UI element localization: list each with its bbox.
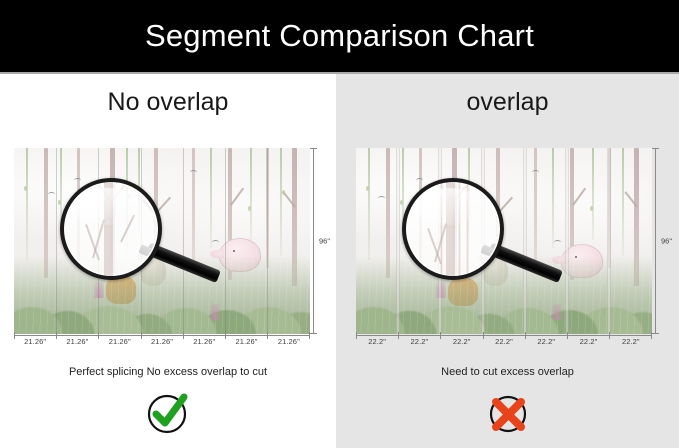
segment-width-label: 22.2" bbox=[398, 337, 440, 346]
verdict-no-overlap bbox=[0, 390, 336, 436]
tree-trunk bbox=[266, 148, 269, 268]
elephant-eye bbox=[233, 250, 235, 252]
height-ruler-overlap: 96" bbox=[652, 148, 678, 334]
segment-width-label: 22.2" bbox=[525, 337, 567, 346]
mural-figure-overlap: 96" 22.2" 22.2" 22.2" 2 bbox=[356, 148, 652, 334]
vine-leaf bbox=[590, 206, 593, 211]
foliage-veins bbox=[14, 260, 310, 334]
vine-leaf bbox=[282, 190, 285, 195]
hanging-vine bbox=[592, 148, 594, 240]
panel-heading-overlap: overlap bbox=[336, 88, 679, 117]
width-label-row-no-overlap: 21.26" 21.26" 21.26" 21.26" 21.26" 21.26… bbox=[14, 337, 310, 346]
bird bbox=[48, 192, 55, 197]
header-bar: Segment Comparison Chart bbox=[0, 0, 679, 72]
hanging-vine bbox=[210, 148, 212, 248]
width-ruler-line bbox=[356, 335, 652, 336]
caption-no-overlap: Perfect splicing No excess overlap to cu… bbox=[0, 366, 336, 378]
bird bbox=[74, 178, 81, 183]
height-ruler-tick bbox=[310, 148, 317, 149]
magnifier-glare bbox=[414, 188, 484, 226]
height-ruler-no-overlap: 96" bbox=[310, 148, 336, 334]
segment-width-label: 22.2" bbox=[441, 337, 483, 346]
cross-mark-icon bbox=[485, 390, 531, 436]
bird bbox=[416, 178, 423, 183]
page-title: Segment Comparison Chart bbox=[145, 18, 534, 54]
tree-trunk bbox=[534, 148, 537, 260]
bird bbox=[378, 196, 385, 201]
segment-width-label: 21.26" bbox=[225, 337, 267, 346]
segment-width-label: 22.2" bbox=[356, 337, 398, 346]
caption-overlap: Need to cut excess overlap bbox=[336, 366, 679, 378]
vine-leaf bbox=[366, 186, 369, 191]
pink-plant bbox=[94, 282, 104, 298]
height-label-overlap: 96" bbox=[661, 237, 672, 246]
panel-heading-no-overlap: No overlap bbox=[0, 88, 336, 117]
panel-overlap: overlap bbox=[336, 74, 679, 448]
bird bbox=[212, 240, 219, 245]
vine-leaf bbox=[248, 206, 251, 211]
height-ruler-line bbox=[655, 148, 656, 334]
segment-width-label: 22.2" bbox=[610, 337, 652, 346]
vine-leaf bbox=[58, 200, 61, 205]
hanging-vine bbox=[622, 148, 624, 256]
segment-width-label: 22.2" bbox=[567, 337, 609, 346]
segment-width-label: 21.26" bbox=[99, 337, 141, 346]
width-ruler-line bbox=[14, 335, 310, 336]
height-label-no-overlap: 96" bbox=[319, 237, 330, 246]
segment-width-label: 21.26" bbox=[56, 337, 98, 346]
hanging-vine bbox=[368, 148, 370, 260]
check-mark-icon bbox=[145, 390, 191, 436]
segment-width-label: 21.26" bbox=[14, 337, 56, 346]
mural-image-overlap bbox=[356, 148, 652, 334]
bird bbox=[554, 240, 561, 245]
hanging-vine bbox=[250, 148, 252, 240]
height-ruler-tick bbox=[652, 333, 659, 334]
height-ruler-tick bbox=[652, 148, 659, 149]
hanging-vine bbox=[552, 148, 554, 248]
pink-plant bbox=[210, 304, 220, 320]
magnifier-lens bbox=[402, 178, 504, 280]
foliage-veins bbox=[356, 260, 652, 334]
tree-trunk bbox=[192, 148, 195, 260]
segment-width-label: 21.26" bbox=[268, 337, 310, 346]
verdict-overlap bbox=[336, 390, 679, 436]
height-ruler-tick bbox=[310, 333, 317, 334]
hanging-vine bbox=[280, 148, 282, 256]
magnifier-glare bbox=[72, 188, 142, 226]
magnifier-lens bbox=[60, 178, 162, 280]
segment-comparison-chart-page: Segment Comparison Chart No overlap bbox=[0, 0, 679, 448]
mural-image-no-overlap bbox=[14, 148, 310, 334]
width-ruler-overlap: 22.2" 22.2" 22.2" 22.2" 22.2" 22.2" 22.2… bbox=[356, 335, 652, 357]
mural-figure-no-overlap: 96" 21.26" 21.26" 21.26" bbox=[14, 148, 310, 334]
comparison-split: No overlap bbox=[0, 74, 679, 448]
panel-no-overlap: No overlap bbox=[0, 74, 336, 448]
bird bbox=[190, 170, 197, 175]
vine-leaf bbox=[400, 200, 403, 205]
height-ruler-line bbox=[313, 148, 314, 334]
segment-width-label: 21.26" bbox=[183, 337, 225, 346]
segment-width-label: 22.2" bbox=[483, 337, 525, 346]
vine-leaf bbox=[24, 186, 27, 191]
pink-plant bbox=[552, 304, 562, 320]
width-label-row-overlap: 22.2" 22.2" 22.2" 22.2" 22.2" 22.2" 22.2… bbox=[356, 337, 652, 346]
tree-trunk bbox=[608, 148, 611, 268]
width-ruler-no-overlap: 21.26" 21.26" 21.26" 21.26" 21.26" 21.26… bbox=[14, 335, 310, 357]
hanging-vine bbox=[26, 148, 28, 260]
segment-width-label: 21.26" bbox=[141, 337, 183, 346]
pink-plant bbox=[436, 282, 446, 298]
bird bbox=[532, 170, 539, 175]
